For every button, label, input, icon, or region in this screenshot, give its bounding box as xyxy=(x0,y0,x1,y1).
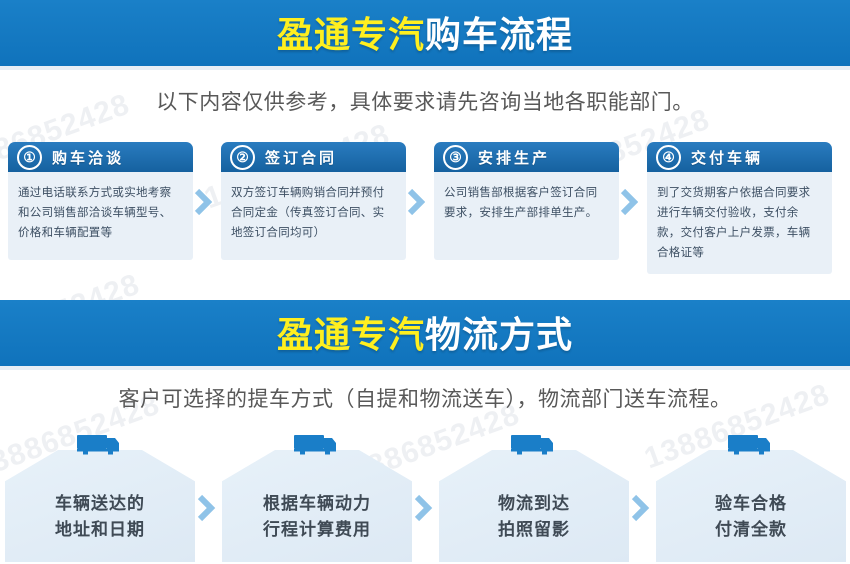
logistics-card-4[interactable]: 验车合格 付清全款 xyxy=(656,432,846,564)
step-title-4: 交付车辆 xyxy=(691,147,763,168)
chevron-right-icon xyxy=(412,432,434,564)
logistics-line-1a: 车辆送达的 xyxy=(55,491,145,517)
logistics-line-4a: 验车合格 xyxy=(715,491,787,517)
logistics-card-2[interactable]: 根据车辆动力 行程计算费用 xyxy=(222,432,412,564)
section-banner-purchase: 盈通专汽购车流程 xyxy=(0,0,850,70)
banner-subject-text: 购车流程 xyxy=(425,14,573,55)
chevron-right-icon xyxy=(619,142,639,262)
section-banner-logistics: 盈通专汽物流方式 xyxy=(0,300,850,370)
logistics-line-2b: 行程计算费用 xyxy=(263,517,371,543)
step-card-1[interactable]: ① 购车洽谈 通过电话联系方式或实地考察和公司销售部洽谈车辆型号、价格和车辆配置… xyxy=(8,142,193,260)
chevron-right-icon xyxy=(406,142,426,262)
chevron-right-icon xyxy=(195,432,217,564)
logistics-line-3b: 拍照留影 xyxy=(498,517,570,543)
logistics-line-4b: 付清全款 xyxy=(715,517,787,543)
banner-subject-text: 物流方式 xyxy=(425,314,573,355)
logistics-card-body-3: 物流到达 拍照留影 xyxy=(439,450,629,562)
banner-brand-text: 盈通专汽 xyxy=(277,14,425,55)
step-title-3: 安排生产 xyxy=(478,147,550,168)
step-number-3: ③ xyxy=(443,145,468,170)
purchase-steps-row: ① 购车洽谈 通过电话联系方式或实地考察和公司销售部洽谈车辆型号、价格和车辆配置… xyxy=(0,142,850,262)
infographic-page: 13886852428 13886852428 13886852428 1388… xyxy=(0,0,850,564)
step-title-2: 签订合同 xyxy=(265,147,337,168)
step-body-3: 公司销售部根据客户签订合同要求，安排生产部排单生产。 xyxy=(434,172,619,260)
step-card-4[interactable]: ④ 交付车辆 到了交货期客户依据合同要求进行车辆交付验收，支付余款，交付客户上户… xyxy=(647,142,832,274)
logistics-card-body-1: 车辆送达的 地址和日期 xyxy=(5,450,195,562)
step-header-4: ④ 交付车辆 xyxy=(647,142,832,172)
truck-icon xyxy=(74,432,126,458)
step-header-2: ② 签订合同 xyxy=(221,142,406,172)
step-card-3[interactable]: ③ 安排生产 公司销售部根据客户签订合同要求，安排生产部排单生产。 xyxy=(434,142,619,260)
step-body-1: 通过电话联系方式或实地考察和公司销售部洽谈车辆型号、价格和车辆配置等 xyxy=(8,172,193,260)
subtitle-logistics: 客户可选择的提车方式（自提和物流送车），物流部门送车流程。 xyxy=(0,383,850,413)
step-number-2: ② xyxy=(230,145,255,170)
truck-icon xyxy=(291,432,343,458)
step-body-2: 双方签订车辆购销合同并预付合同定金（传真签订合同、实地签订合同均可） xyxy=(221,172,406,260)
step-title-1: 购车洽谈 xyxy=(52,147,124,168)
truck-icon xyxy=(725,432,777,458)
step-header-1: ① 购车洽谈 xyxy=(8,142,193,172)
logistics-card-3[interactable]: 物流到达 拍照留影 xyxy=(439,432,629,564)
chevron-right-icon xyxy=(193,142,213,262)
logistics-steps-row: 车辆送达的 地址和日期 根据车辆动力 行程计算费用 xyxy=(0,432,850,564)
logistics-card-body-4: 验车合格 付清全款 xyxy=(656,450,846,562)
banner-underline xyxy=(0,366,850,370)
chevron-right-icon xyxy=(629,432,651,564)
banner-brand-text: 盈通专汽 xyxy=(277,314,425,355)
banner-title-logistics: 盈通专汽物流方式 xyxy=(277,317,573,353)
subtitle-purchase: 以下内容仅供参考，具体要求请先咨询当地各职能部门。 xyxy=(0,86,850,116)
step-number-1: ① xyxy=(17,145,42,170)
truck-icon xyxy=(508,432,560,458)
logistics-card-1[interactable]: 车辆送达的 地址和日期 xyxy=(5,432,195,564)
banner-underline xyxy=(0,66,850,70)
step-header-3: ③ 安排生产 xyxy=(434,142,619,172)
logistics-line-3a: 物流到达 xyxy=(498,491,570,517)
step-card-2[interactable]: ② 签订合同 双方签订车辆购销合同并预付合同定金（传真签订合同、实地签订合同均可… xyxy=(221,142,406,260)
step-body-4: 到了交货期客户依据合同要求进行车辆交付验收，支付余款，交付客户上户发票，车辆合格… xyxy=(647,172,832,274)
logistics-line-1b: 地址和日期 xyxy=(55,517,145,543)
logistics-line-2a: 根据车辆动力 xyxy=(263,491,371,517)
banner-title-purchase: 盈通专汽购车流程 xyxy=(277,17,573,53)
logistics-card-body-2: 根据车辆动力 行程计算费用 xyxy=(222,450,412,562)
step-number-4: ④ xyxy=(656,145,681,170)
